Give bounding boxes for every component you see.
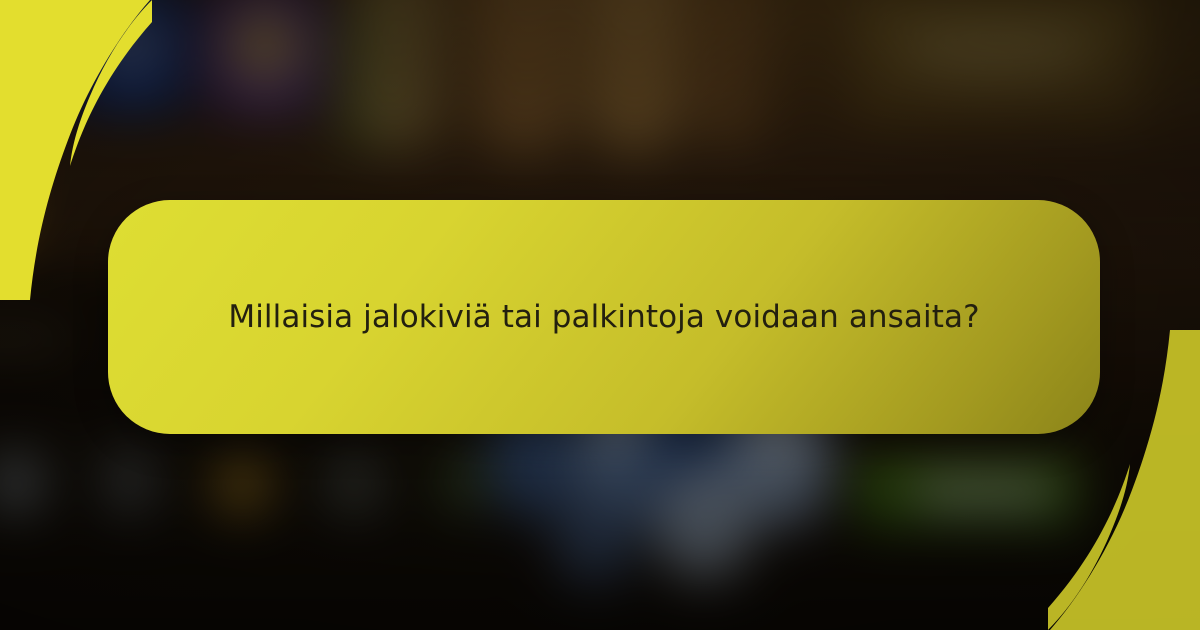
promo-banner: Millaisia jalokiviä tai palkintoja voida… (0, 0, 1200, 630)
question-card: Millaisia jalokiviä tai palkintoja voida… (108, 200, 1100, 434)
question-text: Millaisia jalokiviä tai palkintoja voida… (224, 290, 984, 344)
